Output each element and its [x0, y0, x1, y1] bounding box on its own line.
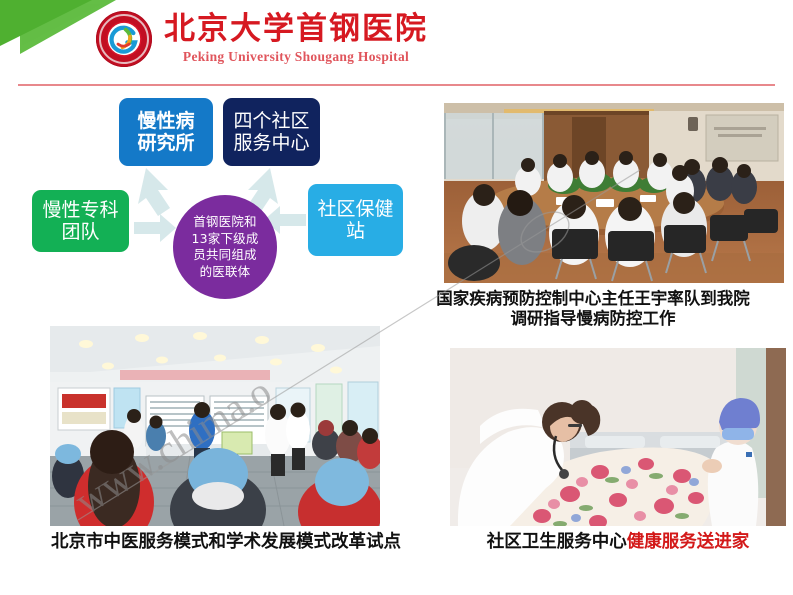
diagram-node-chronic-team[interactable]: 慢性专科 团队	[32, 190, 129, 252]
hospital-logo: 北京大学首钢医院 Peking University Shougang Hosp…	[96, 8, 428, 70]
logo-title-en: Peking University Shougang Hospital	[164, 50, 428, 64]
hospital-emblem-icon	[96, 11, 152, 67]
medical-alliance-diagram: 慢性病 研究所 四个社区 服务中心 慢性专科 团队 社区保健 站 首钢医院和 1…	[18, 92, 418, 307]
caption-bottom-right-black: 社区卫生服务中心	[487, 532, 627, 552]
diagram-node-community-centers[interactable]: 四个社区 服务中心	[223, 98, 320, 166]
diagram-node-research-institute[interactable]: 慢性病 研究所	[119, 98, 213, 166]
diagram-node-alliance-hub[interactable]: 首钢医院和 13家下级成 员共同组成 的医联体	[173, 195, 277, 299]
caption-top-right-line1: 国家疾病预防控制中心主任王宇率队到我院	[396, 289, 790, 309]
node-label: 四个社区 服务中心	[233, 110, 309, 155]
photo-home-visit-render	[450, 348, 786, 526]
caption-bottom-right-red: 健康服务送进家	[627, 532, 750, 552]
caption-top-right-line2: 调研指导慢病防控工作	[396, 309, 790, 329]
caption-bottom-right: 社区卫生服务中心健康服务送进家	[446, 532, 790, 553]
node-label: 慢性病 研究所	[137, 110, 194, 155]
emblem-swoosh-icon	[107, 22, 141, 56]
diagram-node-health-station[interactable]: 社区保健 站	[308, 184, 403, 256]
node-label: 社区保健 站	[317, 198, 393, 243]
node-label: 首钢医院和 13家下级成 员共同组成 的医联体	[191, 214, 258, 280]
slide-canvas: 北京大学首钢医院 Peking University Shougang Hosp…	[0, 0, 793, 595]
logo-title-cn: 北京大学首钢医院	[164, 14, 428, 45]
corner-green-triangle	[0, 0, 92, 46]
caption-bottom-left: 北京市中医服务模式和学术发展模式改革试点	[8, 532, 444, 553]
photo-hospital-lobby-render	[50, 326, 380, 526]
node-label: 慢性专科 团队	[42, 199, 118, 244]
photo-hospital-lobby	[50, 326, 380, 526]
header-divider	[18, 84, 775, 86]
photo-meeting-room	[444, 103, 784, 283]
photo-home-visit	[450, 348, 786, 526]
photo-meeting-room-render	[444, 103, 784, 283]
caption-top-right: 国家疾病预防控制中心主任王宇率队到我院 调研指导慢病防控工作	[396, 289, 790, 329]
